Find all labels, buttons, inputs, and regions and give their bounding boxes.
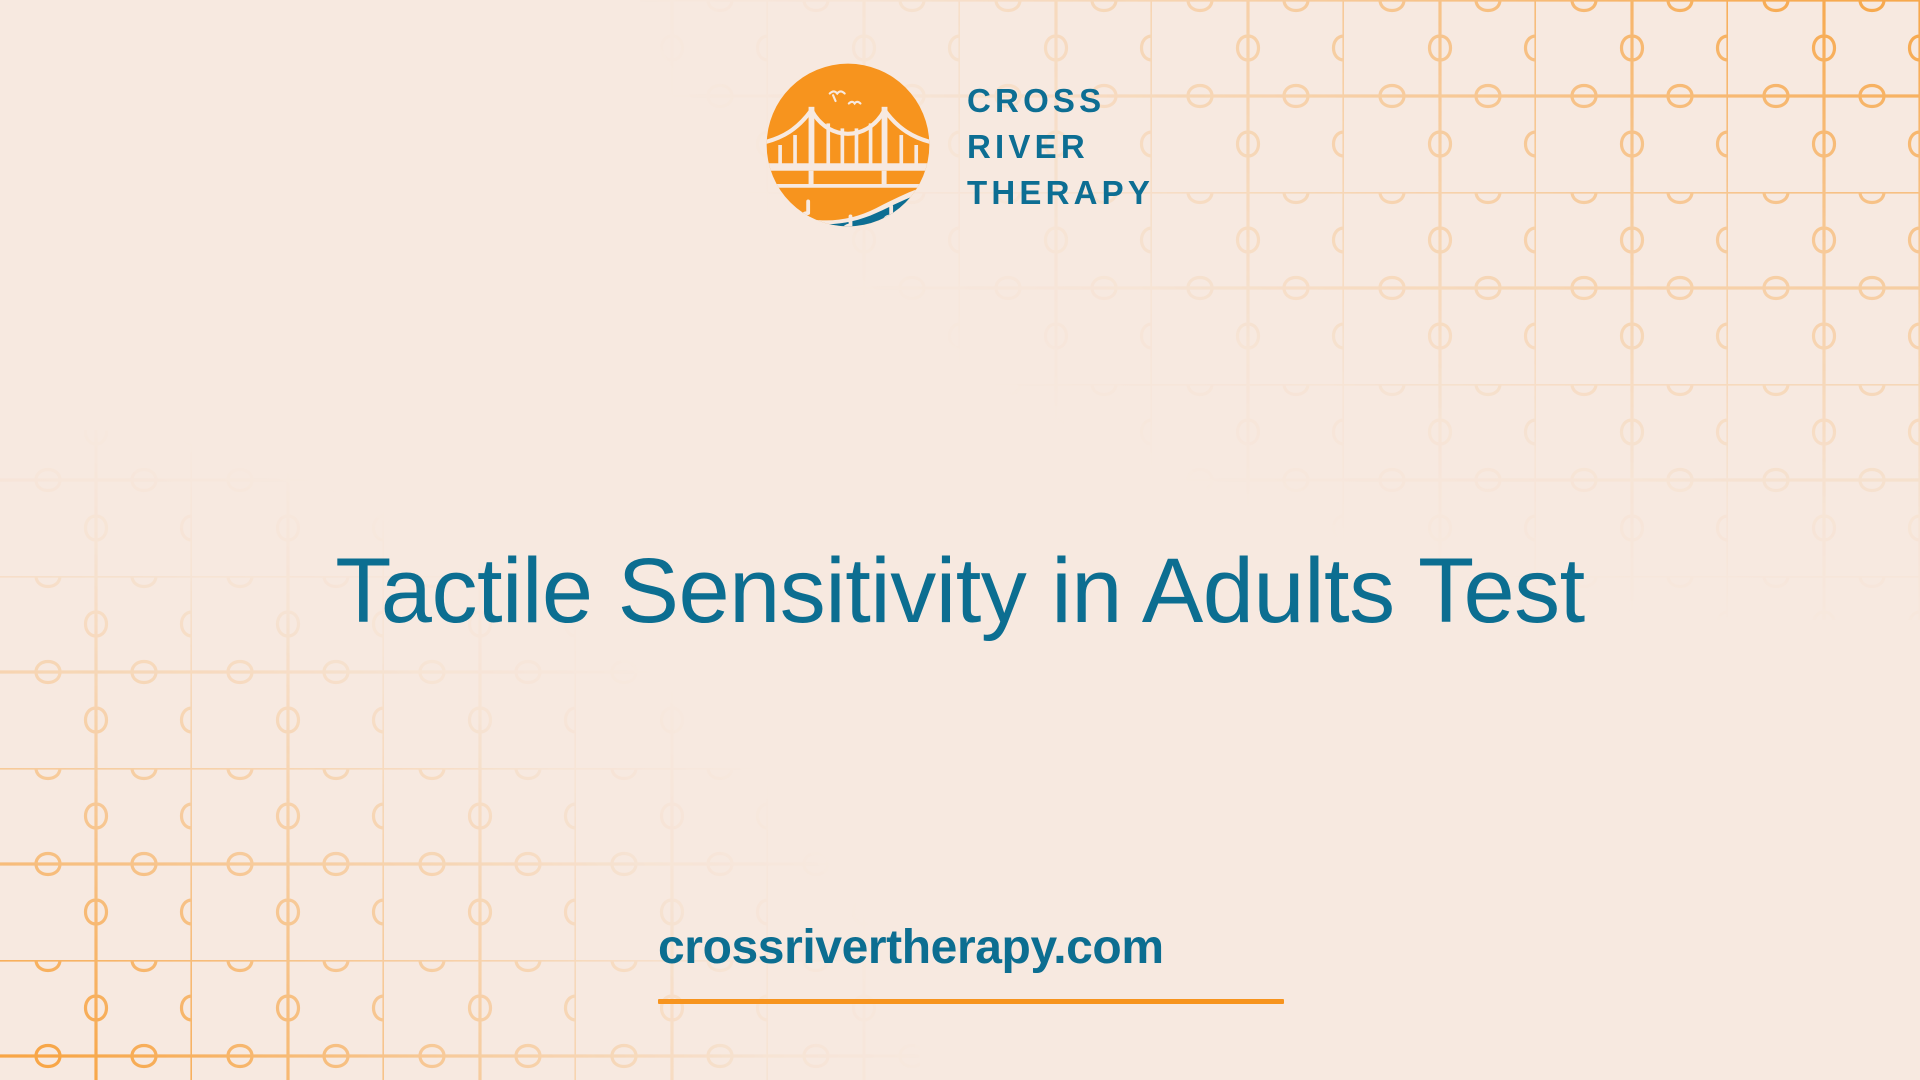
bridge-deck xyxy=(765,163,931,170)
cross-river-therapy-bridge-circle-logo xyxy=(765,62,931,228)
poster-canvas: CROSS RIVER THERAPY Tactile Sensitivity … xyxy=(0,0,1920,1080)
wordmark-line-river: RIVER xyxy=(967,126,1154,168)
brand-wordmark: CROSS RIVER THERAPY xyxy=(967,76,1154,215)
website-url-underline xyxy=(658,999,1284,1004)
page-title: Tactile Sensitivity in Adults Test xyxy=(0,540,1920,643)
website-url-text[interactable]: crossrivertherapy.com xyxy=(658,922,1284,975)
wordmark-line-therapy: THERAPY xyxy=(967,172,1154,214)
wordmark-line-cross: CROSS xyxy=(967,80,1154,122)
footer-website-block[interactable]: crossrivertherapy.com xyxy=(658,922,1284,1004)
brand-logo-lockup[interactable]: CROSS RIVER THERAPY xyxy=(765,62,1154,228)
